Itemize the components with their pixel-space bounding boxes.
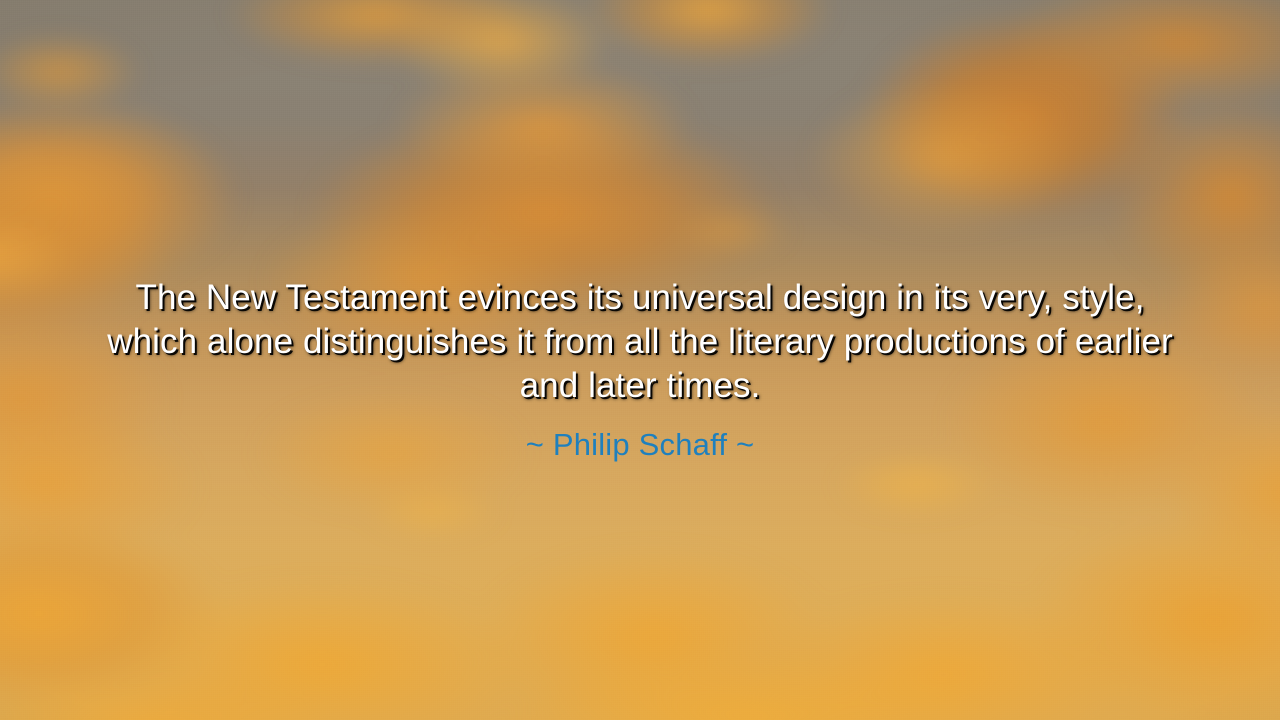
quote-slide: The New Testament evinces its universal … bbox=[0, 0, 1280, 720]
cloud-top-middle-3 bbox=[585, 0, 861, 65]
cloud-wisp-3 bbox=[668, 204, 792, 258]
quote-text: The New Testament evinces its universal … bbox=[100, 276, 1180, 408]
cloud-upper-right-3 bbox=[778, 80, 1082, 236]
cloud-wisp-2 bbox=[364, 484, 502, 538]
cloud-bottom-5 bbox=[1027, 516, 1280, 720]
quote-block: The New Testament evinces its universal … bbox=[0, 276, 1280, 464]
quote-attribution: ~ Philip Schaff ~ bbox=[52, 426, 1228, 464]
cloud-center-2 bbox=[391, 49, 695, 189]
